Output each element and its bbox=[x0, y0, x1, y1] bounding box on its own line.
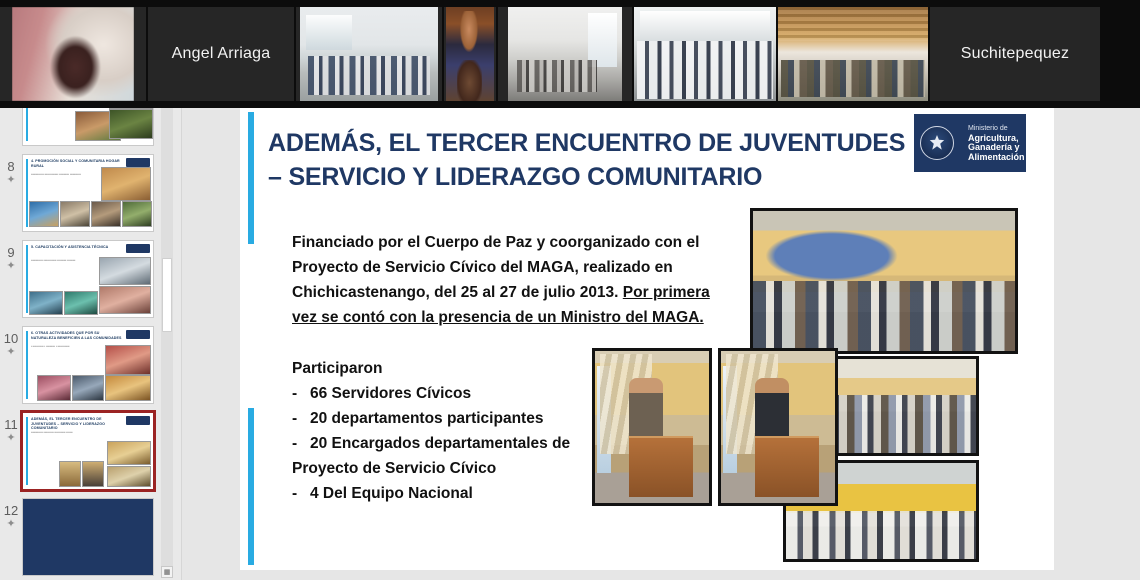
star-icon: ✦ bbox=[2, 518, 20, 531]
list-item[interactable]: 12 ✦ bbox=[0, 498, 164, 576]
thumb-photo bbox=[82, 461, 104, 487]
dash-marker: - bbox=[292, 481, 302, 506]
star-icon: ✦ bbox=[2, 174, 20, 187]
maga-logo-icon bbox=[126, 158, 150, 167]
thumb-body-text: ▪▪▪▪▪▪▪▪▪▪▪▪▪ ▪▪▪▪▪▪▪▪▪▪▪ ▪▪▪▪▪▪▪▪▪▪▪▪ ▪… bbox=[31, 431, 109, 434]
thumb-photo bbox=[107, 441, 151, 465]
maga-ministry-logo: Ministerio de Agricultura, Ganadería y A… bbox=[914, 114, 1026, 172]
accent-bar bbox=[26, 108, 28, 141]
thumb-meta: 11 ✦ bbox=[2, 418, 20, 445]
logo-line-4: Alimentación bbox=[968, 153, 1025, 163]
thumb-photo bbox=[59, 461, 81, 487]
current-slide[interactable]: ADEMÁS, EL TERCER ENCUENTRO DE JUVENTUDE… bbox=[240, 108, 1054, 570]
maga-logo-icon bbox=[126, 330, 150, 339]
slide-thumbnail-rail[interactable]: 7 ✦ AMBIENTE ▪▪▪▪▪▪▪▪▪▪▪▪▪▪▪▪ ▪▪▪▪▪▪▪▪▪▪… bbox=[0, 108, 164, 580]
thumb-body-text: ▪ ▪▪▪▪▪▪▪▪▪▪▪▪ ▪ ▪▪▪▪▪▪▪▪▪▪ ▪ ▪▪▪▪▪▪▪▪▪▪… bbox=[31, 345, 109, 348]
sidebar-scroll-button[interactable]: ▦ bbox=[161, 566, 173, 578]
thumb-photo bbox=[91, 201, 121, 227]
thumb-title: ADEMÁS, EL TERCER ENCUENTRO DE JUVENTUDE… bbox=[31, 417, 123, 431]
participant-video-feed bbox=[778, 7, 928, 101]
slide-thumbnail-current[interactable]: ADEMÁS, EL TERCER ENCUENTRO DE JUVENTUDE… bbox=[22, 412, 154, 490]
maga-logo-icon bbox=[126, 244, 150, 253]
video-tile[interactable] bbox=[0, 7, 146, 101]
slide-photo-auditorium bbox=[750, 208, 1018, 354]
thumb-body-text: ▪▪▪▪▪▪▪▪▪▪▪▪▪▪ ▪▪▪▪▪▪▪▪▪▪▪▪▪▪▪ ▪▪▪▪▪▪▪▪▪… bbox=[31, 173, 109, 176]
thumb-photo bbox=[99, 286, 151, 314]
slide-paragraph: Financiado por el Cuerpo de Paz y coorga… bbox=[292, 230, 712, 330]
video-tile[interactable] bbox=[634, 7, 776, 101]
thumb-photo bbox=[64, 291, 98, 315]
star-icon: ✦ bbox=[2, 432, 20, 445]
slide-accent-bar-top bbox=[248, 112, 254, 244]
sidebar-scrollbar-track[interactable] bbox=[161, 108, 173, 566]
sidebar-scrollbar-thumb[interactable] bbox=[162, 258, 172, 332]
thumb-meta: 12 ✦ bbox=[2, 504, 20, 531]
thumb-title: 5. CAPACITACIÓN Y ASISTENCIA TÉCNICA bbox=[31, 245, 123, 250]
thumb-body-text: ▪▪▪▪▪▪▪▪▪▪▪▪▪ ▪▪▪▪▪▪▪▪▪▪▪▪▪▪ ▪▪▪▪▪▪▪▪▪▪ … bbox=[31, 259, 109, 262]
participant-video-feed bbox=[446, 7, 494, 101]
slide-thumbnail-sidebar: 7 ✦ AMBIENTE ▪▪▪▪▪▪▪▪▪▪▪▪▪▪▪▪ ▪▪▪▪▪▪▪▪▪▪… bbox=[0, 108, 182, 580]
list-item-label: 20 departamentos participantes bbox=[310, 406, 543, 431]
list-item-selected[interactable]: 11 ✦ ADEMÁS, EL TERCER ENCUENTRO DE JUVE… bbox=[0, 412, 164, 490]
slide-thumbnail[interactable] bbox=[22, 498, 154, 576]
maga-logo-text: Ministerio de Agricultura, Ganadería y A… bbox=[968, 124, 1025, 162]
slide-number: 9 bbox=[2, 246, 20, 260]
slide-number: 11 bbox=[2, 418, 20, 432]
accent-bar bbox=[26, 245, 28, 313]
slide-number: 12 bbox=[2, 504, 20, 518]
slide-thumbnail[interactable]: 4. PROMOCIÓN SOCIAL Y COMUNITARIA HOGAR … bbox=[22, 154, 154, 232]
accent-bar bbox=[26, 331, 28, 399]
video-tile[interactable] bbox=[444, 7, 496, 101]
dash-marker: - bbox=[292, 381, 302, 406]
thumb-photo bbox=[72, 375, 104, 401]
video-tile-name-only[interactable]: Angel Arriaga bbox=[148, 7, 294, 101]
thumb-photo bbox=[29, 201, 59, 227]
thumb-meta: 10 ✦ bbox=[2, 332, 20, 359]
presentation-stage: ADEMÁS, EL TERCER ENCUENTRO DE JUVENTUDE… bbox=[182, 108, 1140, 580]
thumb-photo bbox=[107, 466, 151, 487]
slide-photo-minister bbox=[592, 348, 712, 506]
slide-number: 8 bbox=[2, 160, 20, 174]
participant-name: Suchitepequez bbox=[930, 45, 1100, 63]
guatemala-seal-icon bbox=[920, 126, 954, 160]
accent-bar bbox=[26, 417, 28, 485]
thumb-photo bbox=[105, 345, 151, 375]
list-item-label: 20 Encargados departamentales de bbox=[310, 431, 570, 456]
list-item-label: 66 Servidores Cívicos bbox=[310, 381, 471, 406]
thumb-title: 6. OTRAS ACTIVIDADES QUE POR SU NATURALE… bbox=[31, 331, 123, 340]
thumb-photo bbox=[101, 167, 151, 201]
thumb-photo bbox=[37, 375, 71, 401]
thumb-meta: 9 ✦ bbox=[2, 246, 20, 273]
slide-title: ADEMÁS, EL TERCER ENCUENTRO DE JUVENTUDE… bbox=[268, 126, 908, 194]
participant-video-feed bbox=[12, 7, 134, 101]
dash-marker: - bbox=[292, 431, 302, 456]
video-tile[interactable] bbox=[498, 7, 632, 101]
participant-name: Angel Arriaga bbox=[148, 45, 294, 63]
video-tile-name-only[interactable]: Suchitepequez bbox=[930, 7, 1100, 101]
maga-logo-icon bbox=[126, 416, 150, 425]
thumb-photo bbox=[105, 375, 151, 401]
video-tile[interactable] bbox=[778, 7, 928, 101]
app-root: Angel Arriaga Suchitepequez 7 ✦ bbox=[0, 0, 1140, 580]
thumb-photo bbox=[60, 201, 90, 227]
star-icon: ✦ bbox=[2, 260, 20, 273]
list-item[interactable]: 10 ✦ 6. OTRAS ACTIVIDADES QUE POR SU NAT… bbox=[0, 326, 164, 404]
list-item[interactable]: 9 ✦ 5. CAPACITACIÓN Y ASISTENCIA TÉCNICA… bbox=[0, 240, 164, 318]
thumb-photo bbox=[109, 109, 153, 139]
list-item-label: 4 Del Equipo Nacional bbox=[310, 481, 473, 506]
slide-thumbnail[interactable]: 5. CAPACITACIÓN Y ASISTENCIA TÉCNICA ▪▪▪… bbox=[22, 240, 154, 318]
participant-video-feed bbox=[634, 7, 776, 101]
accent-bar bbox=[26, 159, 28, 227]
list-item[interactable]: 7 ✦ AMBIENTE ▪▪▪▪▪▪▪▪▪▪▪▪▪▪▪▪ ▪▪▪▪▪▪▪▪▪▪… bbox=[0, 108, 164, 146]
thumb-photo bbox=[29, 291, 63, 315]
slide-thumbnail[interactable]: AMBIENTE ▪▪▪▪▪▪▪▪▪▪▪▪▪▪▪▪ ▪▪▪▪▪▪▪▪▪▪▪▪ ▪… bbox=[22, 108, 154, 146]
slide-photo-director bbox=[718, 348, 838, 506]
slide-number: 10 bbox=[2, 332, 20, 346]
slide-thumbnail[interactable]: 6. OTRAS ACTIVIDADES QUE POR SU NATURALE… bbox=[22, 326, 154, 404]
dash-marker: - bbox=[292, 406, 302, 431]
participant-video-feed bbox=[300, 7, 438, 101]
thumb-photo bbox=[122, 201, 152, 227]
slide-footer-band bbox=[240, 565, 1054, 570]
thumb-photo bbox=[99, 257, 151, 285]
video-tile[interactable] bbox=[296, 7, 442, 101]
thumb-meta: 8 ✦ bbox=[2, 160, 20, 187]
video-participant-strip: Angel Arriaga Suchitepequez bbox=[0, 0, 1140, 108]
list-item[interactable]: 8 ✦ 4. PROMOCIÓN SOCIAL Y COMUNITARIA HO… bbox=[0, 154, 164, 232]
participant-video-feed bbox=[508, 7, 622, 101]
star-icon: ✦ bbox=[2, 346, 20, 359]
slide-accent-bar-bottom bbox=[248, 408, 254, 566]
